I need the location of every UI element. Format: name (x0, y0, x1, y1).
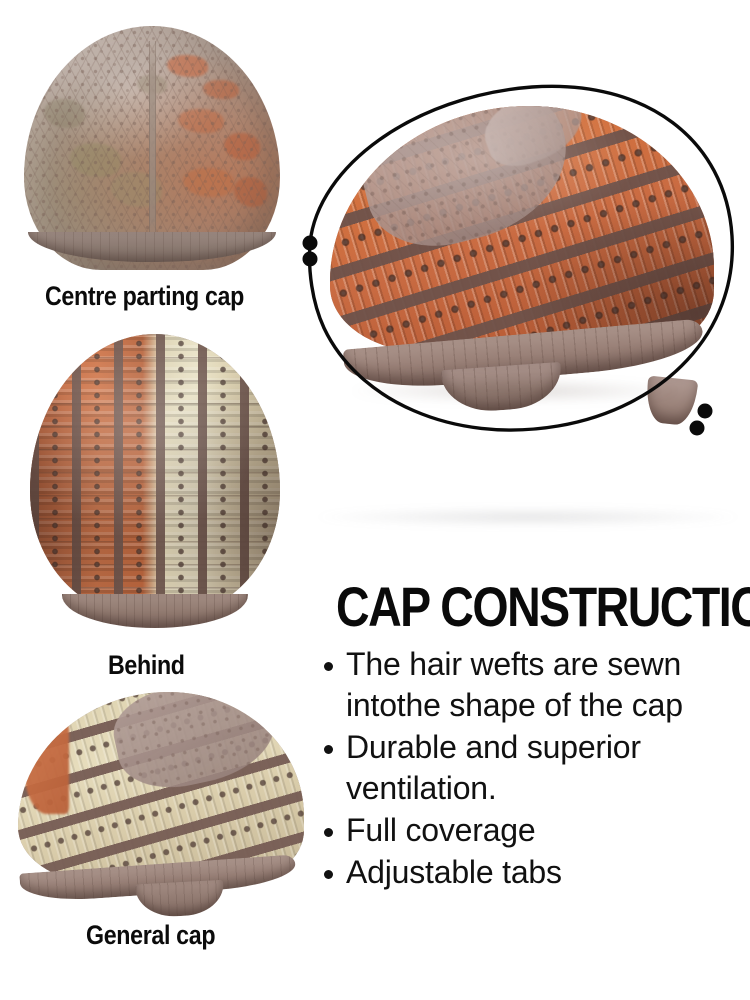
centre-parting-seam (149, 41, 156, 246)
general-cap-image (10, 686, 310, 922)
list-item: Full coverage (318, 810, 748, 851)
feature-list: The hair wefts are sewn intothe shape of… (318, 644, 748, 894)
front-hairline-edge (24, 722, 70, 813)
cap-dome (18, 692, 304, 882)
callout-dot-left-upper (303, 236, 318, 251)
behind-cap-caption: Behind (108, 650, 185, 681)
list-item: Adjustable tabs (318, 852, 748, 893)
callout-dot-bottom-right-lower (690, 421, 705, 436)
general-cap-caption: General cap (86, 920, 215, 951)
cap-dome (24, 26, 280, 270)
callout-dot-bottom-right-upper (698, 404, 713, 419)
infographic-page: Centre parting cap Behind General cap (0, 0, 750, 1000)
ellipse-outline (310, 86, 733, 430)
list-item: Durable and superior ventilation. (318, 727, 748, 809)
hero-cap-closeup (296, 70, 750, 470)
dome-shading (30, 334, 280, 614)
adjustable-tab (135, 880, 225, 919)
cap-dome (30, 334, 280, 614)
callout-ellipse (296, 70, 750, 470)
section-divider-shadow (318, 508, 738, 526)
page-title: CAP CONSTRUCTION (336, 578, 750, 636)
callout-dot-left-lower (303, 252, 318, 267)
centre-parting-cap-image (18, 18, 286, 286)
cap-elastic-band (62, 594, 248, 628)
behind-cap-image (14, 330, 296, 642)
centre-parting-cap-caption: Centre parting cap (45, 281, 244, 312)
list-item: The hair wefts are sewn intothe shape of… (318, 644, 748, 726)
